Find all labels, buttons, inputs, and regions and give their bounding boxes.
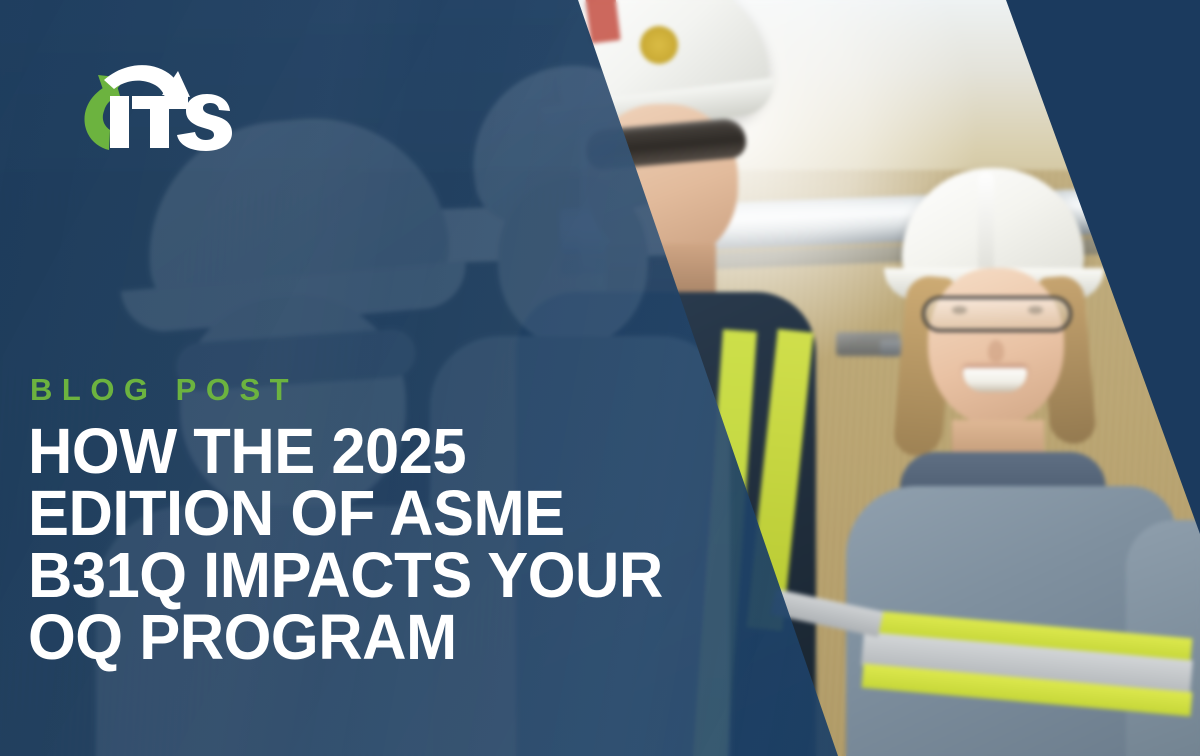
its-logo[interactable] <box>54 56 244 152</box>
headline-line-1: HOW THE 2025 <box>28 420 700 482</box>
headline-line-2: EDITION OF ASME <box>28 482 700 544</box>
headline-line-3: B31Q IMPACTS YOUR <box>28 544 700 606</box>
hero-content: BLOG POST HOW THE 2025 EDITION OF ASME B… <box>0 0 1200 756</box>
headline-line-4: OQ PROGRAM <box>28 606 700 668</box>
eyebrow-label: BLOG POST <box>30 374 298 405</box>
page-title: HOW THE 2025 EDITION OF ASME B31Q IMPACT… <box>28 420 700 668</box>
blog-post-hero-banner: BLOG POST HOW THE 2025 EDITION OF ASME B… <box>0 0 1200 756</box>
